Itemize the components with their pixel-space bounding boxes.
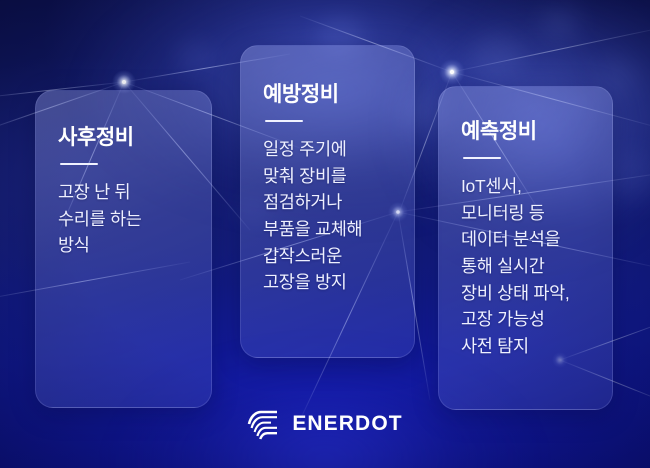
card-body-text: IoT센서, 모니터링 등 데이터 분석을 통해 실시간 장비 상태 파악, 고… [461,173,590,359]
enerdot-swoosh-e-icon [247,408,281,440]
card-body-text: 고장 난 뒤 수리를 하는 방식 [58,179,189,259]
maintenance-card-reactive[interactable]: 사후정비 고장 난 뒤 수리를 하는 방식 [35,90,212,408]
card-divider-rule [265,120,303,122]
card-header: 예방정비 일정 주기에 맞춰 장비를 점검하거나 부품을 교체해 갑작스러운 고… [263,46,392,296]
card-divider-rule [60,163,98,165]
card-title: 예측정비 [461,119,590,144]
brand-logo[interactable]: ENERDOT [0,408,650,440]
maintenance-card-predictive[interactable]: 예측정비 IoT센서, 모니터링 등 데이터 분석을 통해 실시간 장비 상태 … [438,86,613,410]
maintenance-card-preventive[interactable]: 예방정비 일정 주기에 맞춰 장비를 점검하거나 부품을 교체해 갑작스러운 고… [240,45,415,358]
slide-canvas: 사후정비 고장 난 뒤 수리를 하는 방식 예방정비 일정 주기에 맞춰 장비를… [0,0,650,468]
card-title: 사후정비 [58,125,189,150]
card-body-text: 일정 주기에 맞춰 장비를 점검하거나 부품을 교체해 갑작스러운 고장을 방지 [263,136,392,296]
card-header: 예측정비 IoT센서, 모니터링 등 데이터 분석을 통해 실시간 장비 상태 … [461,87,590,359]
card-divider-rule [463,157,501,159]
card-header: 사후정비 고장 난 뒤 수리를 하는 방식 [58,91,189,259]
logo-wordmark: ENERDOT [292,412,402,436]
card-title: 예방정비 [263,82,392,107]
